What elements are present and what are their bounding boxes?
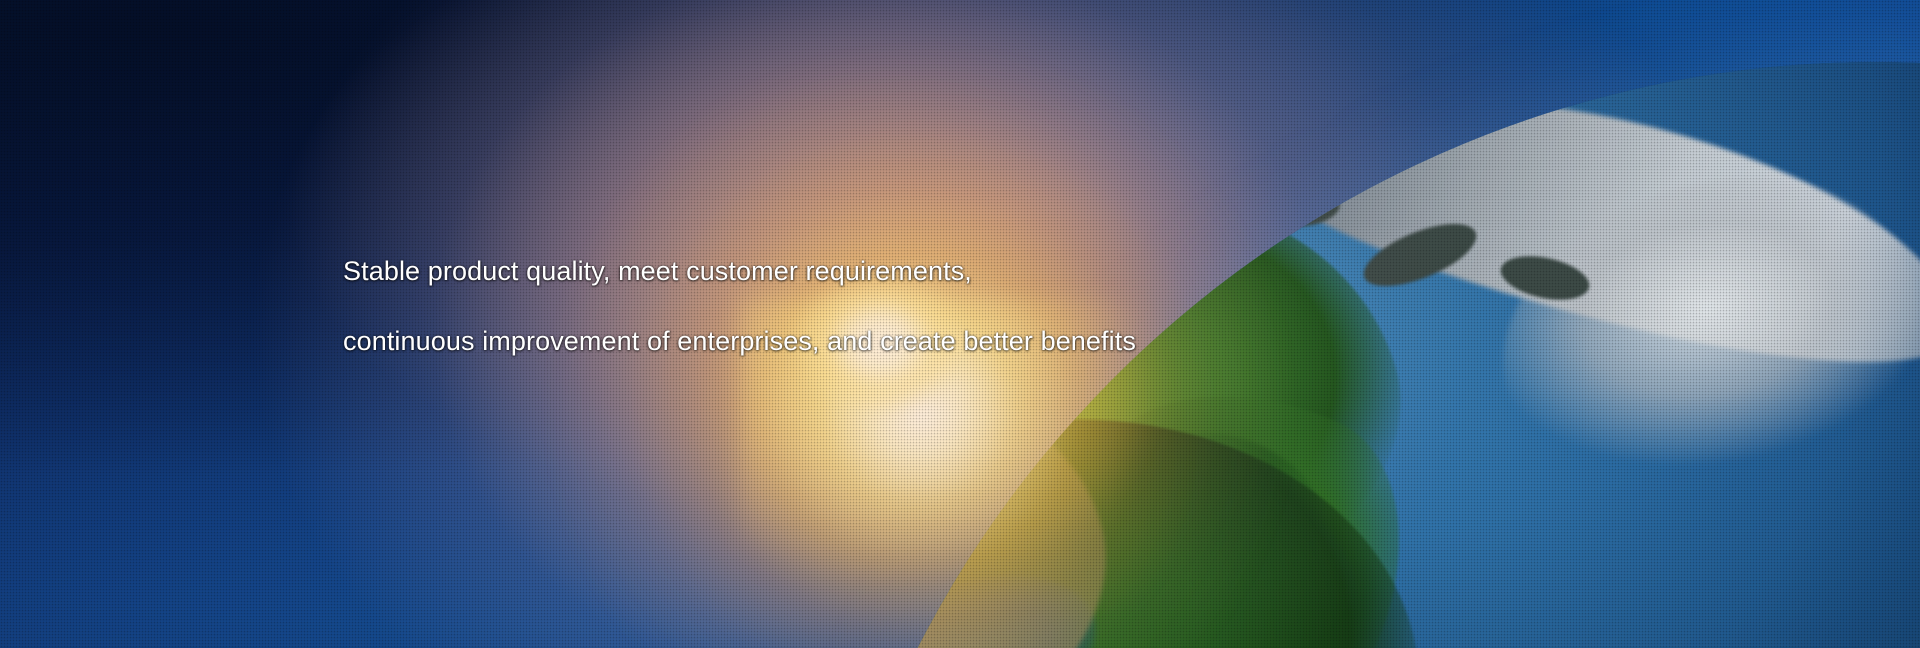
hero-banner: Stable product quality, meet customer re…	[0, 0, 1920, 648]
headline-line-2: continuous improvement of enterprises, a…	[343, 306, 1443, 376]
headline-block: Stable product quality, meet customer re…	[343, 236, 1443, 376]
headline-line-1: Stable product quality, meet customer re…	[343, 236, 1443, 306]
